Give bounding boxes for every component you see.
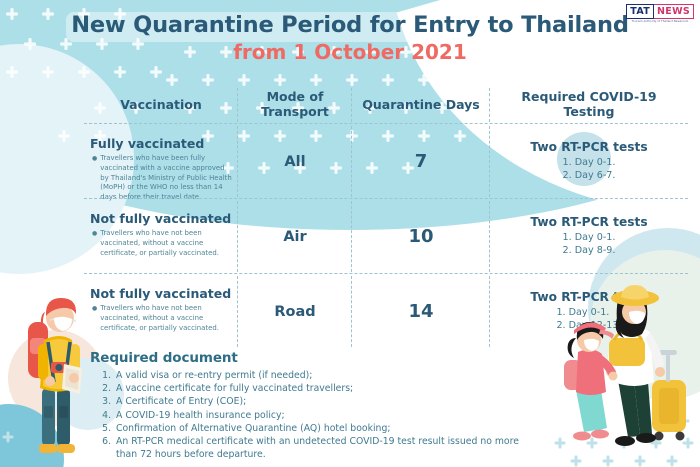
column-header-vaccination: Vaccination	[84, 86, 238, 124]
cell-mode: All	[238, 124, 352, 199]
vaccination-note-text: Travellers who have not been vaccinated,…	[100, 229, 234, 258]
testing-list: 1. Day 0-1. 2. Day 6-7.	[563, 157, 616, 182]
tat-news-logo[interactable]: TAT NEWS Tourism Authority of Thailand N…	[626, 4, 694, 23]
vaccination-note-text: Travellers who have not been vaccinated,…	[100, 304, 234, 333]
cell-testing: Two RT-PCR tests 1. Day 0-1. 2. Day 8-9.	[490, 199, 688, 274]
table-row: Not fully vaccinated ● Travellers who ha…	[84, 199, 688, 274]
testing-item: 1. Day 0-1.	[563, 232, 616, 245]
days-value: 7	[356, 124, 486, 199]
cell-testing: Two RT-PCR tests 1. Day 0-1. 2. Day 6-7.	[490, 124, 688, 199]
testing-item: 2. Day 8-9.	[563, 245, 616, 258]
list-item: A vaccine certificate for fully vaccinat…	[114, 382, 520, 395]
vaccination-note: ● Travellers who have not been vaccinate…	[88, 229, 234, 258]
testing-list: 1. Day 0-1. 2. Day 8-9.	[563, 232, 616, 257]
testing-title: Two RT-PCR tests	[494, 215, 684, 229]
cell-days: 14	[352, 274, 490, 349]
column-header-required-testing: Required COVID-19 Testing	[490, 86, 688, 124]
cell-mode: Road	[238, 274, 352, 349]
column-header-testing-line2: Testing	[564, 104, 615, 119]
logo-news-text: NEWS	[654, 4, 694, 19]
logo-tat-text: TAT	[626, 4, 654, 19]
testing-item: 1. Day 0-1.	[563, 157, 616, 170]
testing-item: 2. Day 6-7.	[563, 170, 616, 183]
infographic-poster: New Quarantine Period for Entry to Thail…	[0, 0, 700, 467]
page-subtitle: from 1 October 2021	[0, 40, 700, 64]
mode-value: Road	[242, 274, 348, 349]
vaccination-note-text: Travellers who have been fully vaccinate…	[100, 154, 234, 203]
cell-vaccination: Not fully vaccinated ● Travellers who ha…	[84, 274, 238, 349]
list-item: A valid visa or re-entry permit (if need…	[114, 369, 520, 382]
vaccination-title: Fully vaccinated	[88, 124, 234, 151]
required-document-title: Required document	[90, 350, 520, 366]
vaccination-note: ● Travellers who have not been vaccinate…	[88, 304, 234, 333]
vaccination-note: ● Travellers who have been fully vaccina…	[88, 154, 234, 203]
cell-days: 10	[352, 199, 490, 274]
page-title: New Quarantine Period for Entry to Thail…	[0, 12, 700, 38]
woman-child-suitcase-illustration	[556, 284, 694, 462]
column-header-mode-line2: Transport	[261, 104, 329, 119]
column-header-vaccination-label: Vaccination	[120, 98, 202, 113]
required-document-section: Required document A valid visa or re-ent…	[90, 350, 520, 461]
cell-vaccination: Not fully vaccinated ● Travellers who ha…	[84, 199, 238, 274]
list-item: A COVID-19 health insurance policy;	[114, 409, 520, 422]
bullet-icon: ●	[92, 154, 97, 203]
table-row: Fully vaccinated ● Travellers who have b…	[84, 124, 688, 199]
column-header-quarantine-days: Quarantine Days	[352, 86, 490, 124]
testing-title: Two RT-PCR tests	[494, 140, 684, 154]
list-item: An RT-PCR medical certificate with an un…	[114, 435, 520, 461]
column-header-mode-line1: Mode of	[267, 89, 324, 104]
table-header-row: Vaccination Mode of Transport Quarantine…	[84, 86, 688, 124]
logo-tagline: Tourism Authority of Thailand Newsroom	[632, 20, 689, 23]
column-header-testing-line1: Required COVID-19	[521, 89, 656, 104]
male-backpacker-illustration	[14, 286, 94, 458]
days-value: 10	[356, 199, 486, 274]
cell-mode: Air	[238, 199, 352, 274]
bullet-icon: ●	[92, 229, 97, 258]
column-header-days-label: Quarantine Days	[362, 98, 479, 113]
days-value: 14	[356, 274, 486, 349]
required-document-list: A valid visa or re-entry permit (if need…	[90, 369, 520, 461]
vaccination-title: Not fully vaccinated	[88, 199, 234, 226]
cell-vaccination: Fully vaccinated ● Travellers who have b…	[84, 124, 238, 199]
list-item: Confirmation of Alternative Quarantine (…	[114, 422, 520, 435]
list-item: A Certificate of Entry (COE);	[114, 395, 520, 408]
mode-value: Air	[242, 199, 348, 274]
column-header-mode-of-transport: Mode of Transport	[238, 86, 352, 124]
vaccination-title: Not fully vaccinated	[88, 274, 234, 301]
mode-value: All	[242, 124, 348, 199]
cell-days: 7	[352, 124, 490, 199]
